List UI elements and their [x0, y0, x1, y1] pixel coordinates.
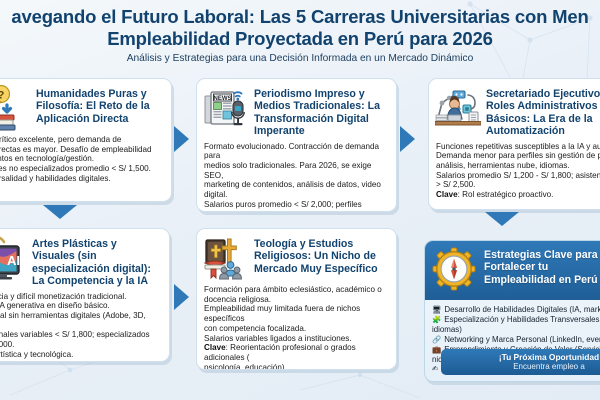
card-line: S/ 3,000.: [0, 340, 162, 350]
svg-text:NEWS: NEWS: [214, 96, 232, 102]
career-card-periodismo[interactable]: NEWS: [196, 78, 397, 212]
card-line: s directas es mayor. Desafío de empleabi…: [0, 145, 164, 155]
tablet-ai-art-icon: AI: [0, 235, 27, 281]
card-line: to crítico excelente, pero demanda de: [0, 135, 164, 145]
card-line: Salarios promedio S/ 1,200 - S/ 1,800; a…: [436, 171, 600, 181]
card-line: Demanda menor para perfiles sin gestión …: [436, 151, 600, 161]
header: avegando el Futuro Laboral: Las 5 Carrer…: [0, 0, 600, 72]
card-line: e la IA generativa en diseño básico.: [0, 301, 162, 311]
card-line: > S/ 2,500.: [436, 180, 600, 190]
computer-icon: 🖥: [432, 305, 441, 314]
card-line: Formación para ámbito eclesiástico, acad…: [204, 285, 389, 295]
card-title: Humanidades Puras y Filosofía: El Reto d…: [36, 85, 164, 125]
card-line: marketing de contenidos, análisis de dat…: [204, 180, 389, 199]
career-card-humanidades[interactable]: ? Humanidades Puras y Filosofía: El Reto…: [0, 78, 172, 202]
cta-subtext: Encuentra empleo a: [449, 362, 600, 372]
card-title: Teología y Estudios Religiosos: Un Nicho…: [254, 235, 389, 275]
card-title: Artes Plásticas y Visuales (sin especial…: [32, 235, 162, 288]
card-line: Empleabilidad muy limitada fuera de nich…: [204, 304, 389, 323]
card-header: Teología y Estudios Religiosos: Un Nicho…: [197, 229, 396, 283]
card-line: dicionales variables < S/ 1,800; especia…: [0, 330, 162, 340]
card-header: NEWS: [197, 79, 396, 140]
card-line: ciales no especializados promedio < S/ 1…: [0, 164, 164, 174]
card-header: Secretariado Ejecutivo y Roles Administr…: [429, 79, 600, 140]
card-line: etencia y difícil monetización tradicion…: [0, 292, 162, 302]
arrow-right-card1-to-card2: [174, 126, 189, 152]
card-title: Secretariado Ejecutivo y Roles Administr…: [486, 85, 600, 138]
career-card-teologia[interactable]: Teología y Estudios Religiosos: Un Nicho…: [196, 228, 397, 370]
list-item-label: Networking y Marca Personal (LinkedIn, e…: [444, 335, 600, 344]
arrow-right-card4-to-card5: [174, 284, 189, 310]
briefcase-icon: 💼: [432, 345, 441, 354]
card-title: Periodismo Impreso y Medios Tradicionale…: [254, 85, 389, 138]
list-item-continuation: idiomas): [432, 325, 600, 334]
cta-banner[interactable]: ¡Tu Próxima Oportunidad Encuentra empleo…: [441, 349, 600, 376]
card-body: to crítico excelente, pero demanda de s …: [0, 133, 171, 189]
page-subtitle: Análisis y Estrategias para una Decisión…: [0, 53, 600, 64]
card-line: sversalidad y habilidades digitales.: [0, 174, 164, 184]
list-item[interactable]: 🧩 Especialización y Habilidades Transver…: [432, 315, 600, 324]
card-body: Funciones repetitivas susceptibles a la …: [429, 140, 600, 205]
card-key-line: Clave: Rol estratégico proactivo.: [436, 190, 600, 200]
card-line: con competencia focalizada.: [204, 324, 389, 334]
page-title-line-1: avegando el Futuro Laboral: Las 5 Carrer…: [0, 7, 600, 28]
card-line: Salarios variables ligados a institucion…: [204, 334, 389, 344]
list-item-label: Desarrollo de Habilidades Digitales (IA,…: [444, 305, 600, 314]
card-key-label: Clave: [436, 190, 458, 199]
infographic-canvas: avegando el Futuro Laboral: Las 5 Carrer…: [0, 0, 600, 400]
list-item[interactable]: 🔗 Networking y Marca Personal (LinkedIn,…: [432, 335, 600, 344]
card-line: [0, 321, 162, 331]
list-item[interactable]: 🖥 Desarrollo de Habilidades Digitales (I…: [432, 305, 600, 314]
card-line: Formato evolucionado. Contracción de dem…: [204, 142, 389, 161]
compass-gear-icon: [432, 247, 478, 293]
arrow-down-card3-to-panel: [485, 212, 519, 226]
network-icon: 🔗: [432, 335, 441, 344]
card-line: docencia religiosa.: [204, 295, 389, 305]
card-body: Formato evolucionado. Contracción de dem…: [197, 140, 396, 212]
card-key-text: : Reorientación profesional o grados adi…: [204, 343, 356, 362]
card-key-line-2: psicología, educación).: [204, 363, 389, 370]
puzzle-icon: 🧩: [432, 315, 441, 324]
books-question-icon: ?: [0, 85, 31, 131]
card-line: ón artística y tecnológica.: [0, 350, 162, 360]
card-body: etencia y difícil monetización tradicion…: [0, 290, 169, 362]
card-header: AI Artes Plásticas y Visuales (sin espec…: [0, 229, 169, 290]
card-key-line: Clave: Reorientación profesional o grado…: [204, 343, 389, 362]
cta-headline: ¡Tu Próxima Oportunidad: [449, 352, 600, 362]
arrow-down-card1-to-card4: [43, 205, 77, 219]
list-item-label: idiomas): [432, 325, 462, 334]
svg-text:?: ?: [0, 90, 5, 102]
card-key-label: Clave: [204, 343, 226, 352]
svg-text:AI: AI: [7, 253, 20, 268]
pencil-icon: ✍: [432, 364, 438, 373]
card-header: ? Humanidades Puras y Filosofía: El Reto…: [0, 79, 171, 133]
panel-header: Estrategias Clave para Fortalecer tu Emp…: [425, 241, 600, 300]
card-line: laboral sin herramientas digitales (Adob…: [0, 311, 162, 321]
card-line: Funciones repetitivas susceptibles a la …: [436, 142, 600, 152]
arrow-right-card2-to-card3: [400, 126, 415, 152]
card-line: Salarios puros promedio < S/ 2,000; perf…: [204, 200, 389, 212]
card-body: Formación para ámbito eclesiástico, acad…: [197, 283, 396, 370]
career-card-artes-plasticas[interactable]: AI Artes Plásticas y Visuales (sin espec…: [0, 228, 170, 362]
robot-office-worker-icon: [435, 85, 481, 131]
card-line: mentos en tecnología/gestión.: [0, 154, 164, 164]
bible-cross-community-icon: [203, 235, 249, 281]
panel-title: Estrategias Clave para Fortalecer tu Emp…: [484, 247, 600, 286]
list-item-label: Especialización y Habilidades Transversa…: [444, 315, 600, 324]
career-card-secretariado[interactable]: Secretariado Ejecutivo y Roles Administr…: [428, 78, 600, 210]
page-title-line-2: Empleabilidad Proyectada en Perú para 20…: [0, 29, 600, 50]
card-line: análisis, herramientas nube, idiomas.: [436, 161, 600, 171]
strategies-panel[interactable]: Estrategias Clave para Fortalecer tu Emp…: [424, 240, 600, 382]
card-line: medios solo tradicionales. Para 2026, se…: [204, 161, 389, 180]
newspaper-microphone-icon: NEWS: [203, 85, 249, 131]
card-key-text: : Rol estratégico proactivo.: [458, 190, 554, 199]
